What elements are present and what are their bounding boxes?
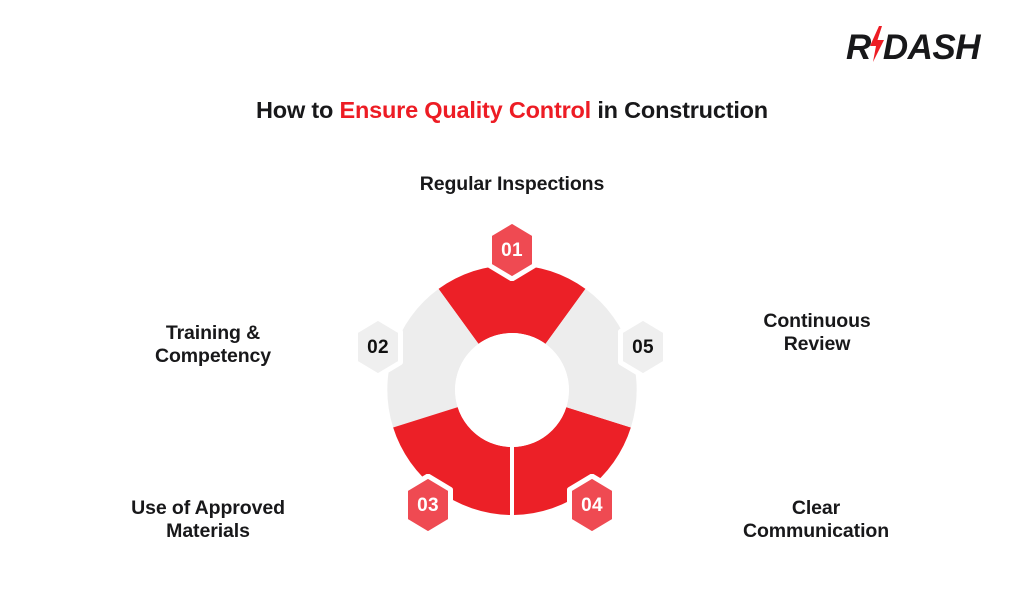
step-label-04: Clear Communication (682, 497, 950, 543)
step-label-line: Materials (78, 520, 338, 543)
step-label-line: Continuous (692, 310, 942, 333)
step-badge-number: 05 (632, 338, 654, 357)
step-label-line: Regular Inspections (0, 173, 1024, 196)
step-label-line: Clear (682, 497, 950, 520)
step-label-02: Training & Competency (86, 322, 340, 368)
step-label-line: Communication (682, 520, 950, 543)
step-badge-02[interactable]: 02 (349, 316, 407, 378)
step-badge-05[interactable]: 05 (614, 316, 672, 378)
step-badge-number: 04 (581, 496, 603, 515)
step-badge-04[interactable]: 04 (563, 474, 621, 536)
step-label-05: Continuous Review (692, 310, 942, 356)
donut-center-hole (455, 333, 569, 447)
step-label-line: Review (692, 333, 942, 356)
step-label-03: Use of Approved Materials (78, 497, 338, 543)
step-badge-number: 02 (367, 338, 389, 357)
step-label-line: Training & (86, 322, 340, 345)
step-label-line: Use of Approved (78, 497, 338, 520)
process-wheel-diagram: 01 02 03 04 05 Regular Inspections Train… (0, 0, 1024, 614)
step-badge-01[interactable]: 01 (483, 219, 541, 281)
step-badge-03[interactable]: 03 (399, 474, 457, 536)
step-badge-number: 01 (501, 241, 523, 260)
step-badge-number: 03 (417, 496, 439, 515)
step-label-01: Regular Inspections (0, 173, 1024, 196)
step-label-line: Competency (86, 345, 340, 368)
